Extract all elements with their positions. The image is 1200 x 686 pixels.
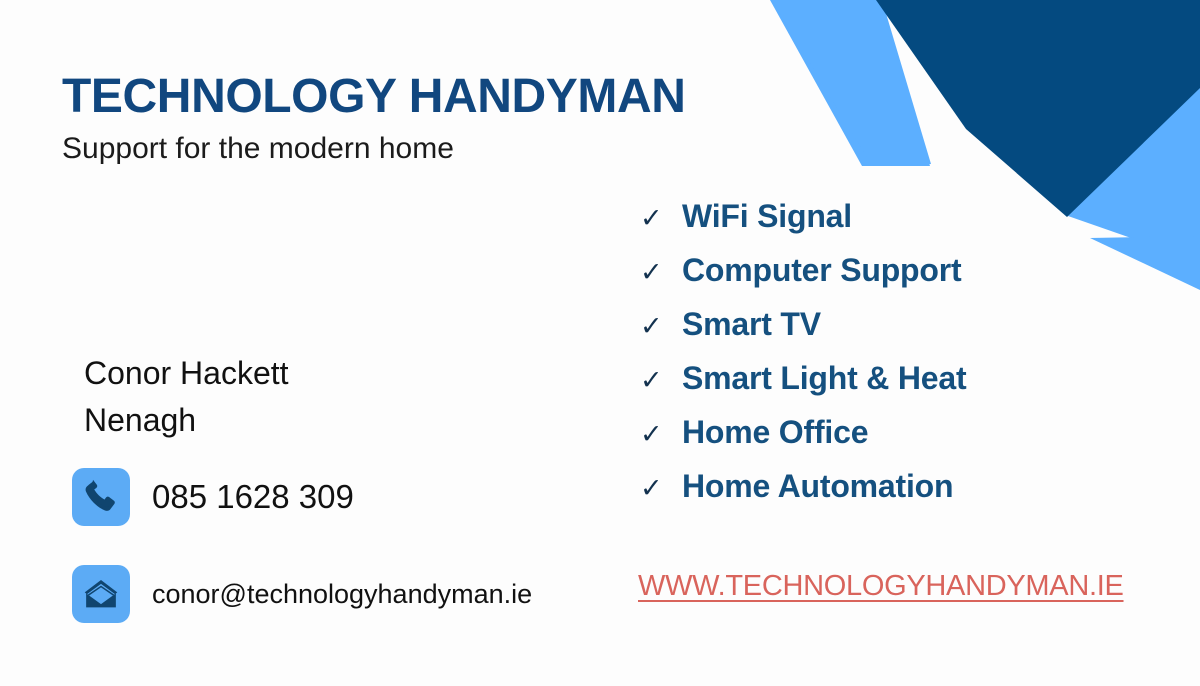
check-icon: ✓ <box>640 259 682 286</box>
service-label: Smart TV <box>682 306 821 343</box>
brand-tagline: Support for the modern home <box>62 132 782 167</box>
phone-icon <box>72 468 130 526</box>
check-icon: ✓ <box>640 313 682 340</box>
brand-header: TECHNOLOGY HANDYMAN Support for the mode… <box>62 72 782 167</box>
phone-number: 085 1628 309 <box>152 478 354 516</box>
service-label: Computer Support <box>682 252 961 289</box>
website-link[interactable]: WWW.TECHNOLOGYHANDYMAN.IE <box>638 570 1124 603</box>
list-item: ✓ Home Office <box>640 414 1160 468</box>
navy-diamond <box>876 0 1200 217</box>
service-label: Smart Light & Heat <box>682 360 966 397</box>
check-icon: ✓ <box>640 367 682 394</box>
check-icon: ✓ <box>640 421 682 448</box>
list-item: ✓ WiFi Signal <box>640 198 1160 252</box>
page-title: TECHNOLOGY HANDYMAN <box>62 72 782 122</box>
list-item: ✓ Home Automation <box>640 468 1160 522</box>
business-card: TECHNOLOGY HANDYMAN Support for the mode… <box>0 0 1200 686</box>
contact-row-phone[interactable]: 085 1628 309 <box>72 468 354 526</box>
service-label: WiFi Signal <box>682 198 852 235</box>
person-name: Conor Hackett <box>84 350 289 397</box>
contact-row-email[interactable]: conor@technologyhandyman.ie <box>72 565 532 623</box>
services-list: ✓ WiFi Signal ✓ Computer Support ✓ Smart… <box>640 198 1160 522</box>
service-label: Home Office <box>682 414 868 451</box>
check-icon: ✓ <box>640 475 682 502</box>
service-label: Home Automation <box>682 468 953 505</box>
envelope-icon <box>72 565 130 623</box>
list-item: ✓ Smart TV <box>640 306 1160 360</box>
person-town: Nenagh <box>84 397 289 444</box>
check-icon: ✓ <box>640 205 682 232</box>
list-item: ✓ Smart Light & Heat <box>640 360 1160 414</box>
person-block: Conor Hackett Nenagh <box>84 350 289 445</box>
light-blue-band-left-main <box>772 0 931 166</box>
email-address: conor@technologyhandyman.ie <box>152 579 532 610</box>
light-blue-band-left <box>770 0 930 166</box>
list-item: ✓ Computer Support <box>640 252 1160 306</box>
